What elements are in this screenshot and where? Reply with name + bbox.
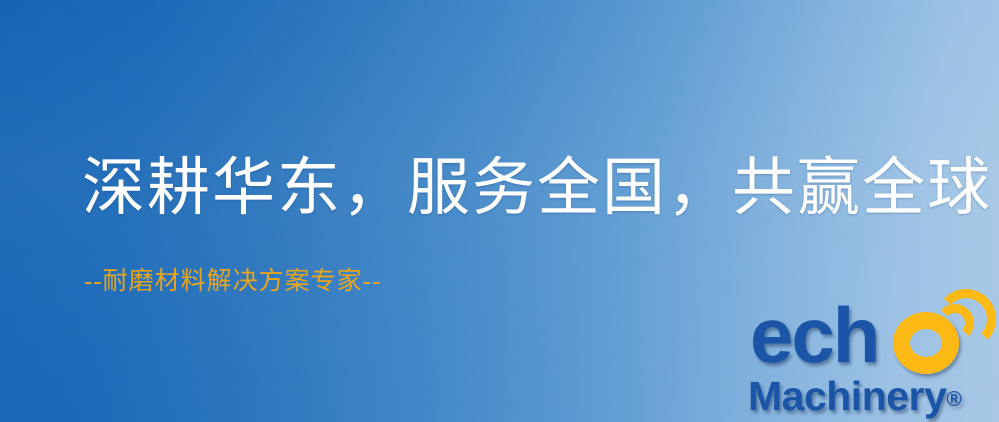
hero-banner: 深耕华东，服务全国，共赢全球 --耐磨材料解决方案专家-- ech Machin… — [0, 0, 999, 422]
logo-tagline-text: Machinery — [748, 373, 946, 419]
registered-trademark-icon: ® — [946, 388, 961, 411]
banner-headline: 深耕华东，服务全国，共赢全球 — [82, 152, 992, 224]
logo-tagline-wrapper: Machinery® — [748, 374, 962, 422]
echo-machinery-logo: ech Machinery® — [746, 296, 999, 422]
signal-arc-outer-icon — [935, 288, 997, 350]
banner-subtitle: --耐磨材料解决方案专家-- — [84, 267, 381, 297]
logo-wordmark-ech: ech — [750, 296, 878, 374]
